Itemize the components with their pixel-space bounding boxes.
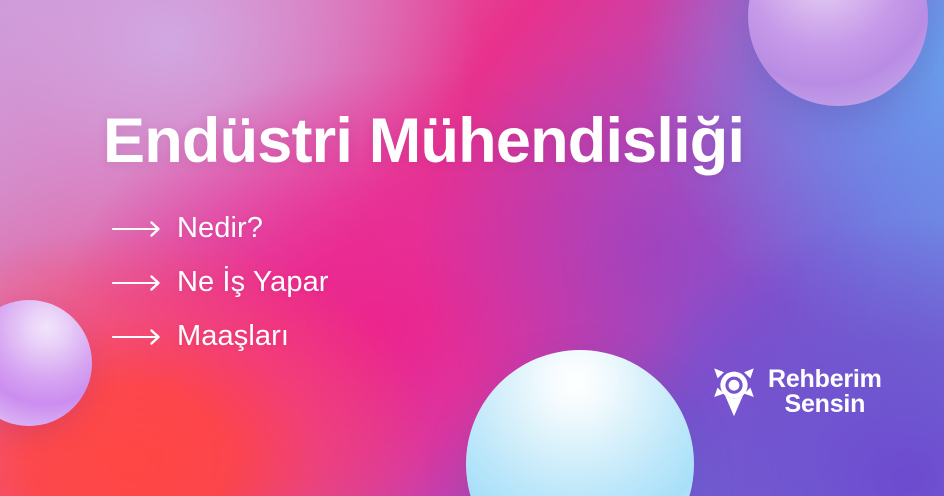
location-pin-compass-icon <box>711 366 757 418</box>
arrow-right-icon <box>112 274 164 292</box>
arrow-right-icon <box>112 220 164 238</box>
list-item: Nedir? <box>112 214 329 243</box>
promo-banner: Endüstri Mühendisliği Nedir? Ne İş Yapar <box>0 0 944 496</box>
list-item-label: Nedir? <box>177 214 263 243</box>
list-item: Maaşları <box>112 322 329 351</box>
arrow-right-icon <box>112 328 164 346</box>
list-item: Ne İş Yapar <box>112 268 329 297</box>
bullet-list: Nedir? Ne İş Yapar Maaşları <box>112 214 329 351</box>
list-item-label: Ne İş Yapar <box>177 268 329 297</box>
brand-name-line-1: Rehberim <box>768 367 882 393</box>
banner-content: Endüstri Mühendisliği Nedir? Ne İş Yapar <box>0 0 944 496</box>
list-item-label: Maaşları <box>177 322 289 351</box>
page-title: Endüstri Mühendisliği <box>103 108 744 175</box>
brand-name-line-2: Sensin <box>768 392 882 418</box>
brand-logo-text: Rehberim Sensin <box>768 367 882 418</box>
brand-logo[interactable]: Rehberim Sensin <box>711 366 882 418</box>
